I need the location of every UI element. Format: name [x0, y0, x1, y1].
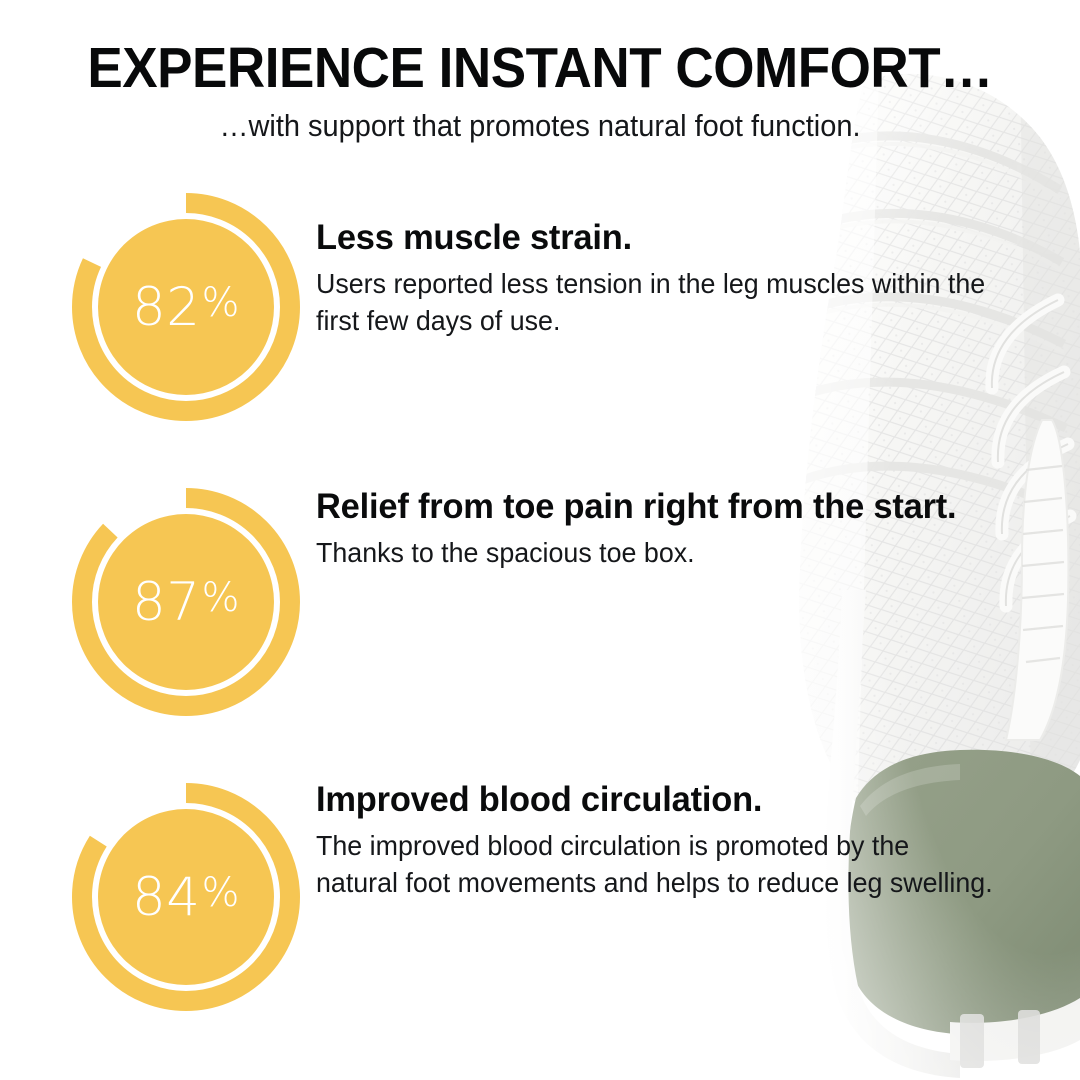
stat-row: 82% Less muscle strain. Users reported l…	[0, 173, 1080, 468]
gauge-percent-sign: %	[201, 283, 240, 323]
page-subtitle: …with support that promotes natural foot…	[27, 98, 1053, 145]
gauge-percent-87: 87%	[70, 486, 302, 718]
gauge-percent-sign: %	[201, 873, 240, 913]
gauge-value-number: 87	[132, 576, 200, 629]
gauge-value-label: 84%	[70, 781, 302, 1013]
stat-text-block: Less muscle strain. Users reported less …	[316, 217, 1016, 339]
stat-body: Users reported less tension in the leg m…	[316, 266, 999, 339]
stat-title: Relief from toe pain right from the star…	[316, 486, 995, 526]
stat-text-block: Relief from toe pain right from the star…	[316, 486, 1016, 572]
stat-title: Less muscle strain.	[316, 217, 995, 257]
stat-list: 82% Less muscle strain. Users reported l…	[0, 173, 1080, 1058]
gauge-value-label: 87%	[70, 486, 302, 718]
gauge-value-label: 82%	[70, 191, 302, 423]
stat-row: 87% Relief from toe pain right from the …	[0, 468, 1080, 763]
stat-title: Improved blood circulation.	[316, 779, 995, 819]
infographic-poster: EXPERIENCE INSTANT COMFORT… …with suppor…	[0, 0, 1080, 1080]
gauge-percent-82: 82%	[70, 191, 302, 423]
stat-row: 84% Improved blood circulation. The impr…	[0, 763, 1080, 1058]
gauge-value-number: 82	[132, 281, 200, 334]
header: EXPERIENCE INSTANT COMFORT… …with suppor…	[0, 0, 1080, 145]
gauge-percent-84: 84%	[70, 781, 302, 1013]
gauge-percent-sign: %	[201, 578, 240, 618]
stat-body: Thanks to the spacious toe box.	[316, 535, 999, 572]
gauge-value-number: 84	[132, 871, 200, 924]
stat-text-block: Improved blood circulation. The improved…	[316, 779, 1016, 901]
page-title: EXPERIENCE INSTANT COMFORT…	[38, 0, 1042, 98]
stat-body: The improved blood circulation is promot…	[316, 828, 999, 901]
